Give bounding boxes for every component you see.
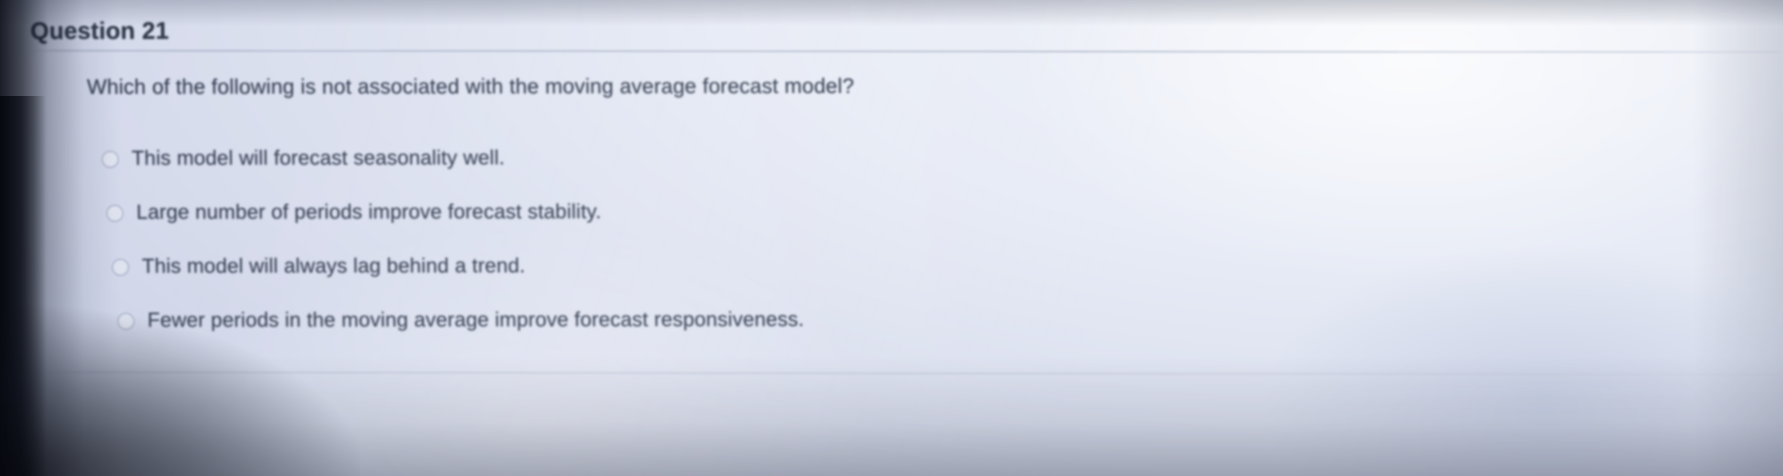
question-header: Question 21 (30, 16, 1783, 46)
answer-option-1[interactable]: This model will forecast seasonality wel… (101, 130, 1402, 186)
answer-option-3[interactable]: This model will always lag behind a tren… (112, 238, 1404, 294)
question-content: Question 21 Which of the following is no… (0, 0, 1783, 476)
radio-button-unchecked-icon[interactable] (106, 204, 123, 221)
footer-divider (38, 372, 1783, 375)
answer-option-label: Large number of periods improve forecast… (136, 200, 601, 225)
quiz-question-screenshot: Question 21 Which of the following is no… (0, 0, 1783, 476)
answer-option-label: This model will forecast seasonality wel… (132, 146, 505, 170)
answer-option-4[interactable]: Fewer periods in the moving average impr… (117, 292, 1404, 348)
radio-button-unchecked-icon[interactable] (102, 150, 119, 167)
answer-option-2[interactable]: Large number of periods improve forecast… (106, 184, 1403, 240)
page-title: Question 21 (30, 16, 1783, 46)
answer-option-label: This model will always lag behind a tren… (142, 254, 526, 278)
answer-options-list: This model will forecast seasonality wel… (101, 130, 1403, 348)
question-prompt: Which of the following is not associated… (87, 74, 1387, 100)
answer-option-label: Fewer periods in the moving average impr… (147, 308, 804, 333)
radio-button-unchecked-icon[interactable] (117, 312, 134, 329)
radio-button-unchecked-icon[interactable] (112, 258, 129, 275)
header-divider (29, 50, 1781, 53)
question-body: Which of the following is not associated… (87, 74, 1387, 100)
